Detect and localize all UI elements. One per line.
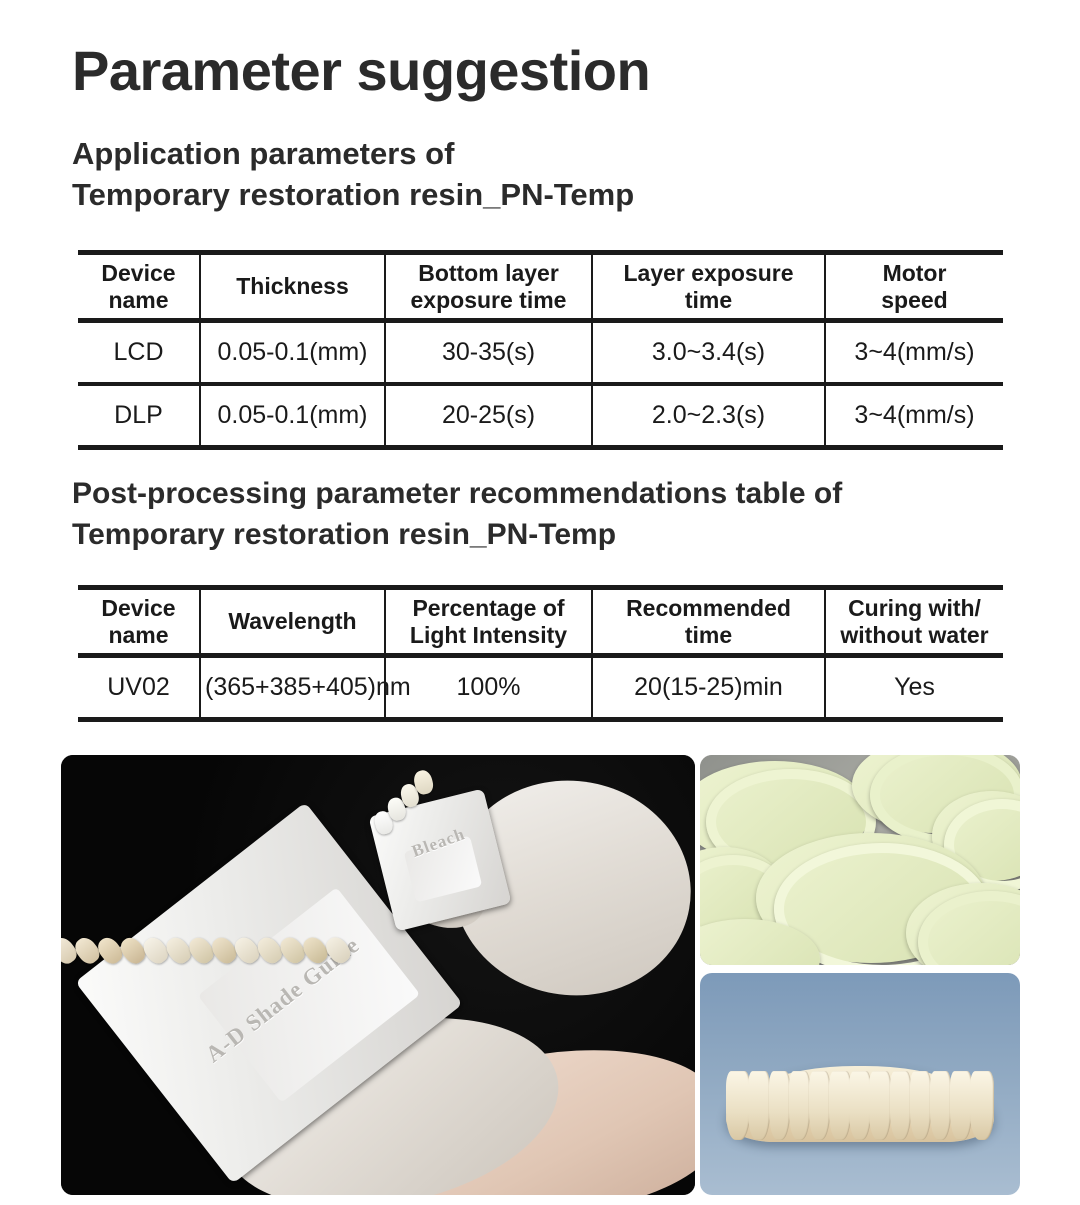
photo-shade-guide: A-D Shade Guide xyxy=(61,755,695,1195)
bridge-tooth xyxy=(930,1071,952,1140)
column-header-line: Light Intensity xyxy=(390,622,587,649)
cell-curing-with-without-water: Yes xyxy=(825,656,1003,720)
column-header-line: time xyxy=(597,622,820,649)
column-header-line: Bottom layer xyxy=(390,260,587,287)
page-root: Parameter suggestion Application paramet… xyxy=(0,0,1080,1205)
column-header-line: Curing with/ xyxy=(830,595,999,622)
bridge-tooth xyxy=(748,1071,770,1140)
section-heading-post-processing: Post-processing parameter recommendation… xyxy=(72,474,842,556)
cell-device-name: UV02 xyxy=(78,656,200,720)
table-row: UV02 (365+385+405)nm 100% 20(15-25)min Y… xyxy=(78,656,1003,720)
bridge-tooth xyxy=(726,1071,750,1140)
column-header-line: Motor xyxy=(830,260,999,287)
table-row: LCD 0.05-0.1(mm) 30-35(s) 3.0~3.4(s) 3~4… xyxy=(78,321,1003,385)
section-heading-application-parameters-line2: Temporary restoration resin_PN-Temp xyxy=(72,174,634,215)
column-header-wavelength: Wavelength xyxy=(200,588,385,656)
page-title: Parameter suggestion xyxy=(72,42,650,101)
cell-device-name: DLP xyxy=(78,384,200,448)
cell-motor-speed: 3~4(mm/s) xyxy=(825,321,1003,385)
cell-thickness: 0.05-0.1(mm) xyxy=(200,321,385,385)
column-header-line: without water xyxy=(830,622,999,649)
column-header-line: Recommended xyxy=(597,595,820,622)
cell-layer-exposure-time: 3.0~3.4(s) xyxy=(592,321,825,385)
cell-thickness: 0.05-0.1(mm) xyxy=(200,384,385,448)
photo-gallery: A-D Shade Guide xyxy=(61,755,1020,1195)
column-header-line: speed xyxy=(830,287,999,314)
bridge-tooth xyxy=(890,1071,912,1140)
column-header-layer-exposure-time: Layer exposure time xyxy=(592,253,825,321)
dental-bridge xyxy=(726,1066,995,1141)
cell-recommended-time: 20(15-25)min xyxy=(592,656,825,720)
column-header-device-name: Device name xyxy=(78,253,200,321)
column-header-motor-speed: Motor speed xyxy=(825,253,1003,321)
column-header-curing-with-without-water: Curing with/ without water xyxy=(825,588,1003,656)
column-header-thickness: Thickness xyxy=(200,253,385,321)
column-header-line: Thickness xyxy=(205,273,380,300)
photo-dental-bridge xyxy=(700,973,1020,1195)
column-header-line: Layer exposure xyxy=(597,260,820,287)
bridge-tooth xyxy=(869,1071,891,1140)
column-header-line: Percentage of xyxy=(390,595,587,622)
photo-printed-arches xyxy=(700,755,1020,965)
cell-bottom-layer-exposure-time: 20-25(s) xyxy=(385,384,592,448)
section-heading-post-processing-line1: Post-processing parameter recommendation… xyxy=(72,474,842,515)
column-header-line: Wavelength xyxy=(205,608,380,635)
bridge-tooth xyxy=(849,1071,871,1140)
bridge-tooth xyxy=(829,1071,851,1140)
section-heading-application-parameters: Application parameters of Temporary rest… xyxy=(72,133,634,215)
bridge-tooth xyxy=(910,1071,932,1140)
column-header-device-name: Device name xyxy=(78,588,200,656)
cell-bottom-layer-exposure-time: 30-35(s) xyxy=(385,321,592,385)
cell-wavelength: (365+385+405)nm xyxy=(200,656,385,720)
cell-device-name: LCD xyxy=(78,321,200,385)
column-header-recommended-time: Recommended time xyxy=(592,588,825,656)
cell-percentage-of-light-intensity: 100% xyxy=(385,656,592,720)
cell-layer-exposure-time: 2.0~2.3(s) xyxy=(592,384,825,448)
bridge-tooth xyxy=(769,1071,791,1140)
section-heading-application-parameters-line1: Application parameters of xyxy=(72,133,634,174)
bridge-tooth xyxy=(789,1071,811,1140)
column-header-percentage-of-light-intensity: Percentage of Light Intensity xyxy=(385,588,592,656)
column-header-line: name xyxy=(82,622,195,649)
cell-motor-speed: 3~4(mm/s) xyxy=(825,384,1003,448)
application-parameters-table: Device name Thickness Bottom layer expos… xyxy=(78,250,1003,450)
table-header-row: Device name Wavelength Percentage of Lig… xyxy=(78,588,1003,656)
bridge-tooth xyxy=(970,1071,994,1140)
column-header-line: name xyxy=(82,287,195,314)
table-row: DLP 0.05-0.1(mm) 20-25(s) 2.0~2.3(s) 3~4… xyxy=(78,384,1003,448)
table-header-row: Device name Thickness Bottom layer expos… xyxy=(78,253,1003,321)
post-processing-parameters-table: Device name Wavelength Percentage of Lig… xyxy=(78,585,1003,722)
column-header-line: time xyxy=(597,287,820,314)
column-header-line: Device xyxy=(82,595,195,622)
column-header-bottom-layer-exposure-time: Bottom layer exposure time xyxy=(385,253,592,321)
bridge-tooth xyxy=(809,1071,831,1140)
column-header-line: exposure time xyxy=(390,287,587,314)
column-header-line: Device xyxy=(82,260,195,287)
section-heading-post-processing-line2: Temporary restoration resin_PN-Temp xyxy=(72,515,842,556)
bridge-tooth xyxy=(950,1071,972,1140)
